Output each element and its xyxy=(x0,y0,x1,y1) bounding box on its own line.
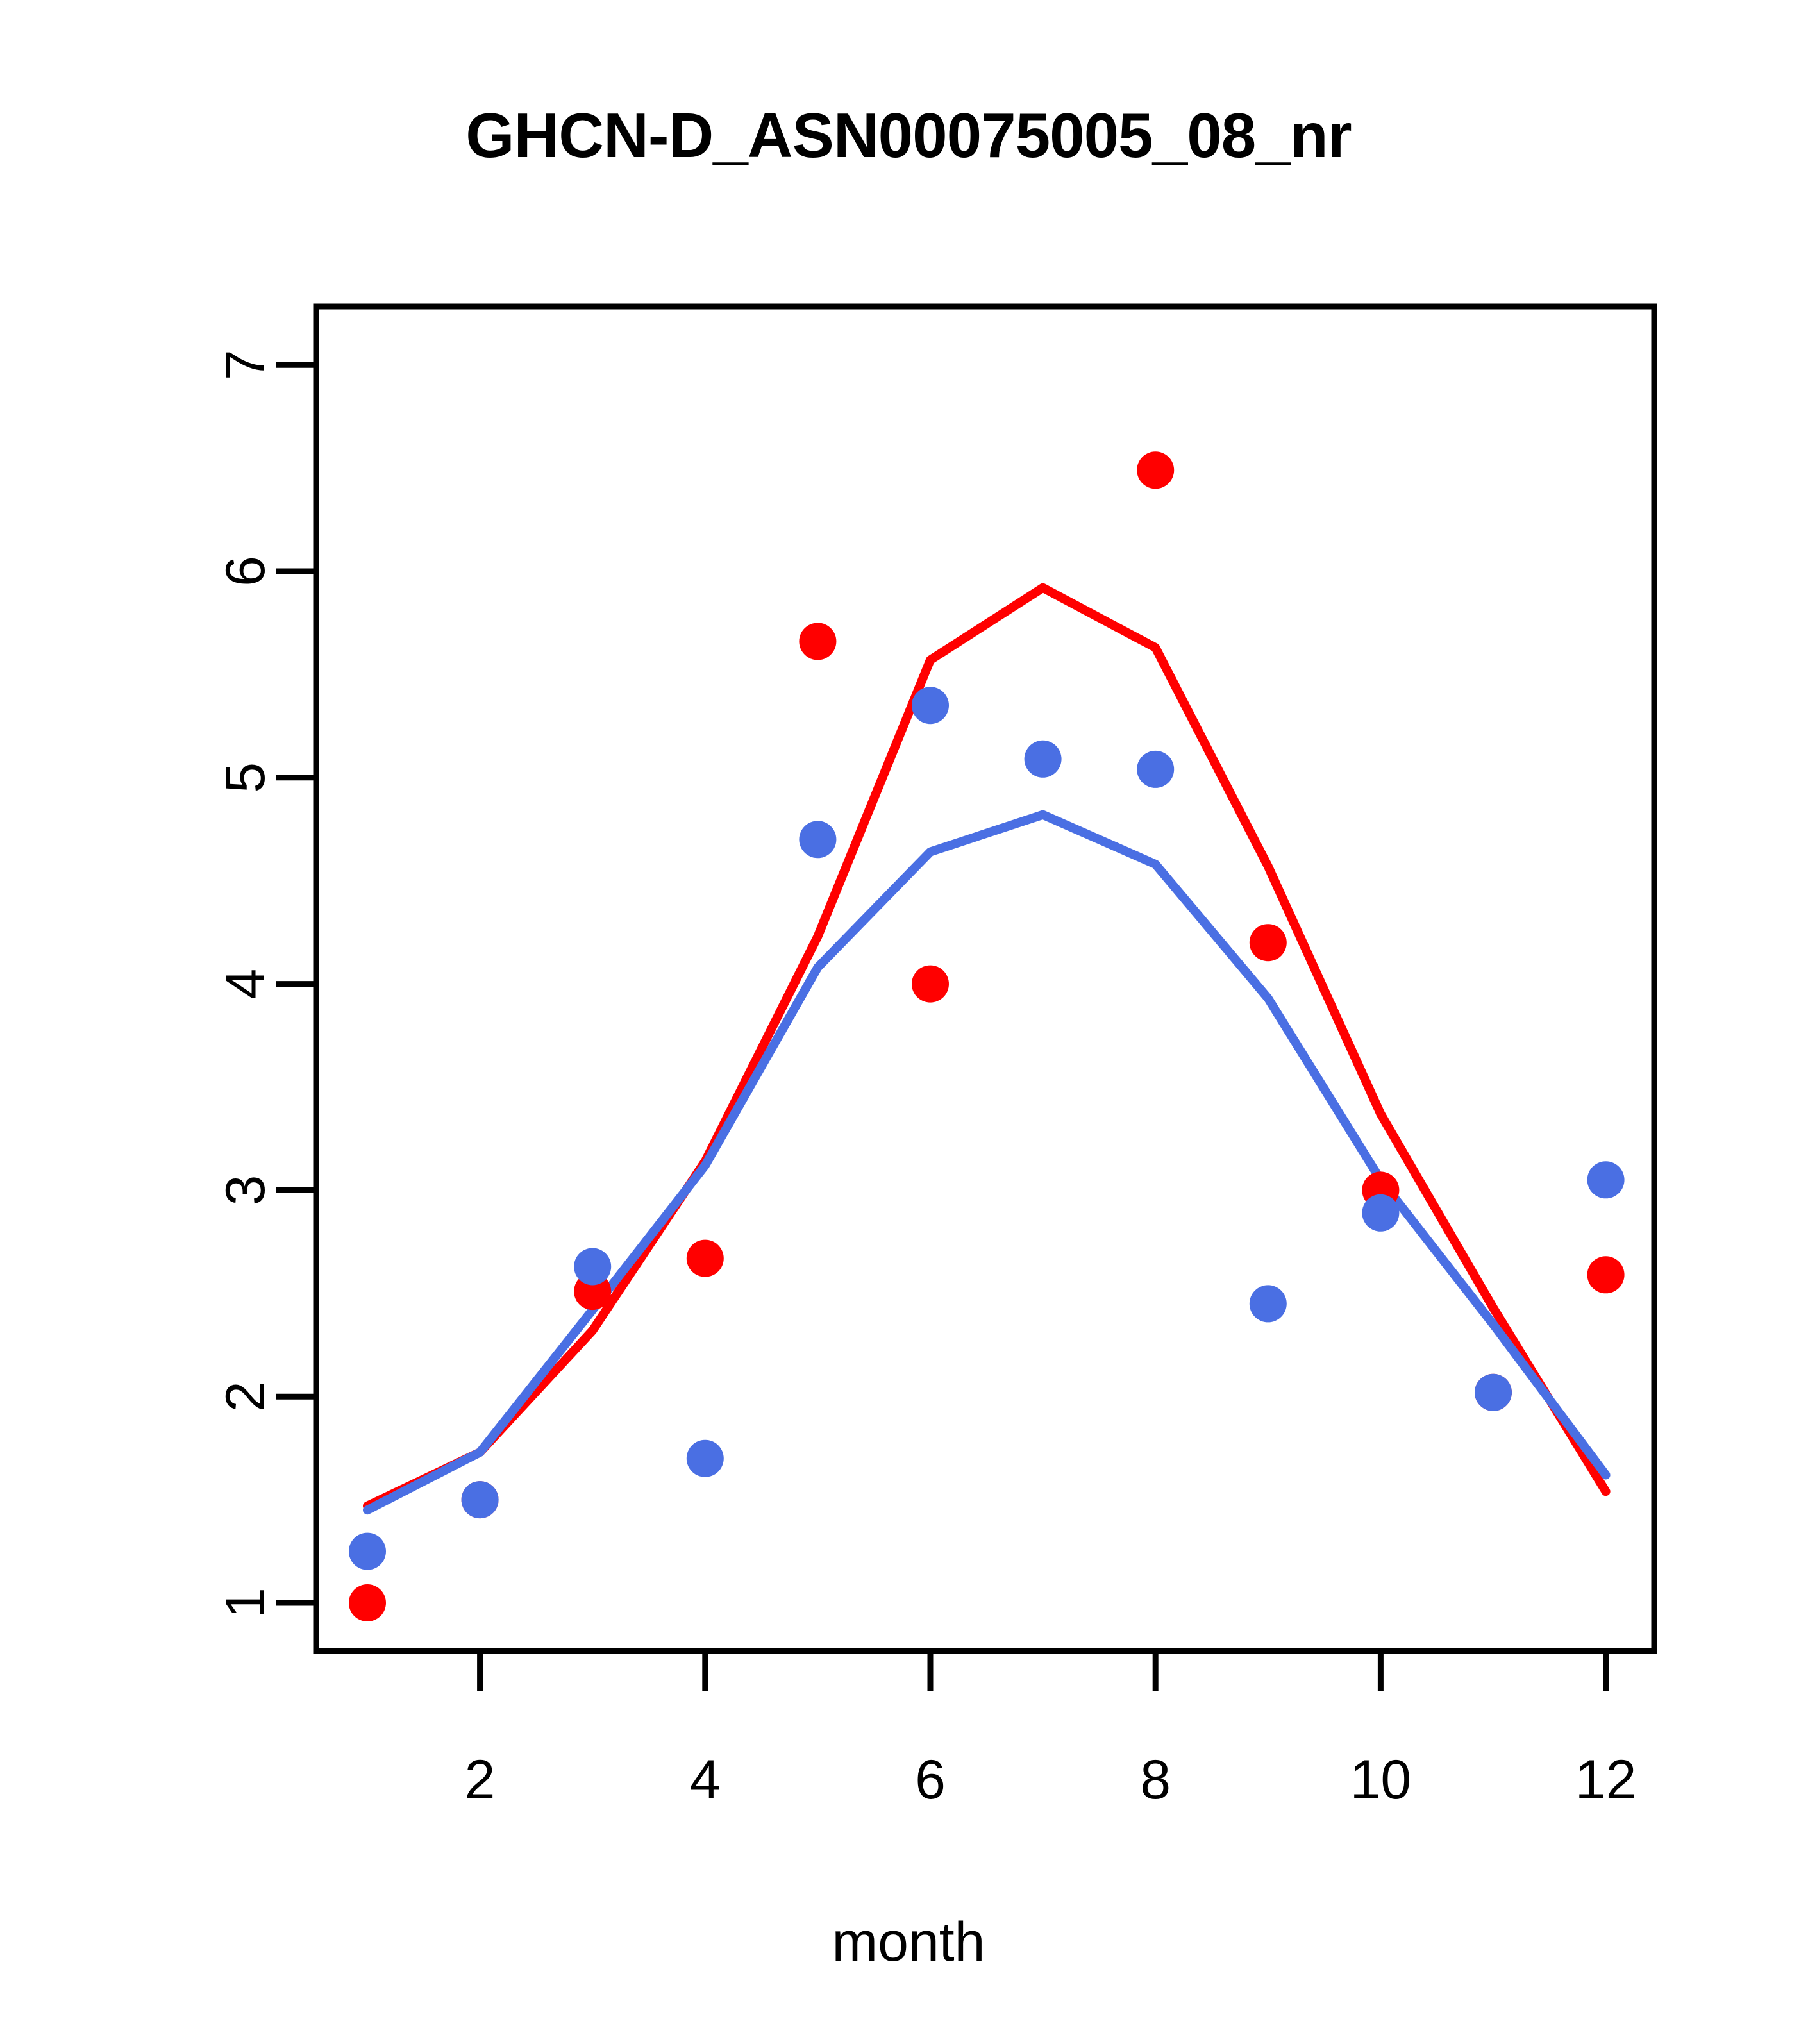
chart-figure: GHCN-D_ASN00075005_08_nr 1234567 2468101… xyxy=(0,0,1817,2044)
x-tick-label-12: 12 xyxy=(1575,1749,1637,1811)
data-point-red-points-m12 xyxy=(1587,1256,1625,1293)
y-axis-tick-labels: 1234567 xyxy=(215,349,276,1618)
data-point-blue-points-m3 xyxy=(574,1248,611,1286)
data-point-red-points-m8 xyxy=(1137,451,1174,489)
data-point-blue-points-m8 xyxy=(1137,751,1174,788)
data-point-red-points-m4 xyxy=(687,1240,724,1277)
data-point-blue-points-m11 xyxy=(1475,1374,1512,1411)
data-point-blue-points-m7 xyxy=(1025,741,1062,778)
data-point-red-points-m1 xyxy=(349,1584,386,1621)
y-tick-label-4: 4 xyxy=(215,969,276,1000)
y-tick-label-3: 3 xyxy=(215,1175,276,1205)
x-axis-ticks xyxy=(480,1651,1606,1691)
y-tick-label-1: 1 xyxy=(215,1587,276,1618)
series-line-red-line xyxy=(367,588,1606,1506)
x-tick-label-6: 6 xyxy=(915,1749,946,1811)
x-tick-label-10: 10 xyxy=(1350,1749,1412,1811)
data-point-blue-points-m5 xyxy=(799,821,836,858)
data-point-blue-points-m1 xyxy=(349,1533,386,1570)
data-point-red-points-m6 xyxy=(912,966,949,1003)
series-line-blue-line xyxy=(367,815,1606,1511)
data-point-red-points-m5 xyxy=(799,623,836,660)
x-tick-label-4: 4 xyxy=(690,1749,721,1811)
data-point-red-points-m9 xyxy=(1250,924,1287,961)
series-lines xyxy=(367,588,1606,1511)
x-tick-label-8: 8 xyxy=(1140,1749,1171,1811)
data-point-blue-points-m12 xyxy=(1587,1161,1625,1198)
y-axis-ticks xyxy=(276,365,316,1603)
y-tick-label-2: 2 xyxy=(215,1381,276,1412)
plot-border xyxy=(316,306,1654,1651)
data-point-blue-points-m4 xyxy=(687,1440,724,1477)
data-point-blue-points-m10 xyxy=(1362,1194,1399,1232)
data-point-blue-points-m2 xyxy=(462,1481,499,1518)
x-axis-tick-labels: 24681012 xyxy=(465,1749,1637,1811)
y-tick-label-5: 5 xyxy=(215,762,276,793)
x-axis-label: month xyxy=(0,1911,1817,1974)
data-point-blue-points-m9 xyxy=(1250,1285,1287,1322)
x-tick-label-2: 2 xyxy=(465,1749,496,1811)
data-point-blue-points-m6 xyxy=(912,687,949,724)
plot-canvas: 1234567 24681012 xyxy=(0,0,1817,2044)
plot-box xyxy=(316,306,1654,1651)
y-tick-label-6: 6 xyxy=(215,556,276,587)
y-tick-label-7: 7 xyxy=(215,349,276,380)
